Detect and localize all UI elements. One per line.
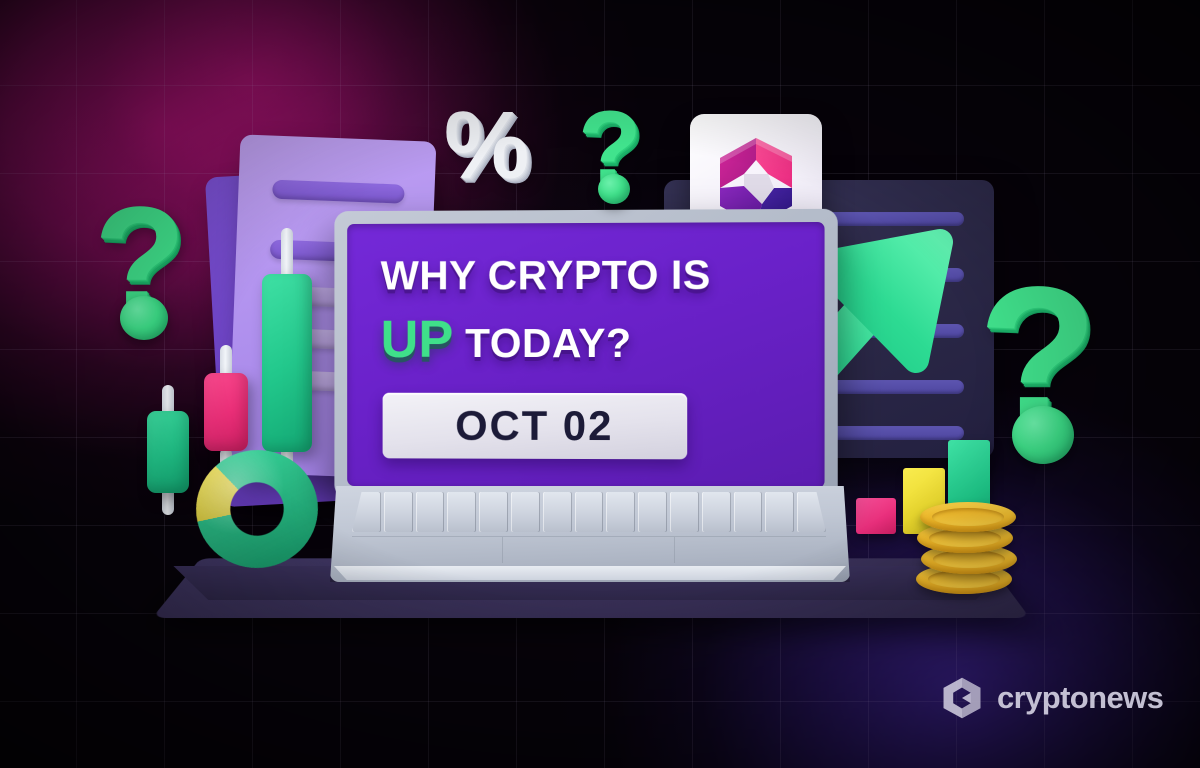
brand-watermark: cryptonews	[940, 676, 1163, 720]
promo-graphic: WHY CRYPTO IS UP TODAY? OCT 02 % ? ?	[0, 0, 1200, 768]
background-vignette	[0, 0, 1200, 768]
brand-watermark-label: cryptonews	[997, 680, 1163, 716]
cryptonews-c-logo-icon	[940, 676, 984, 720]
